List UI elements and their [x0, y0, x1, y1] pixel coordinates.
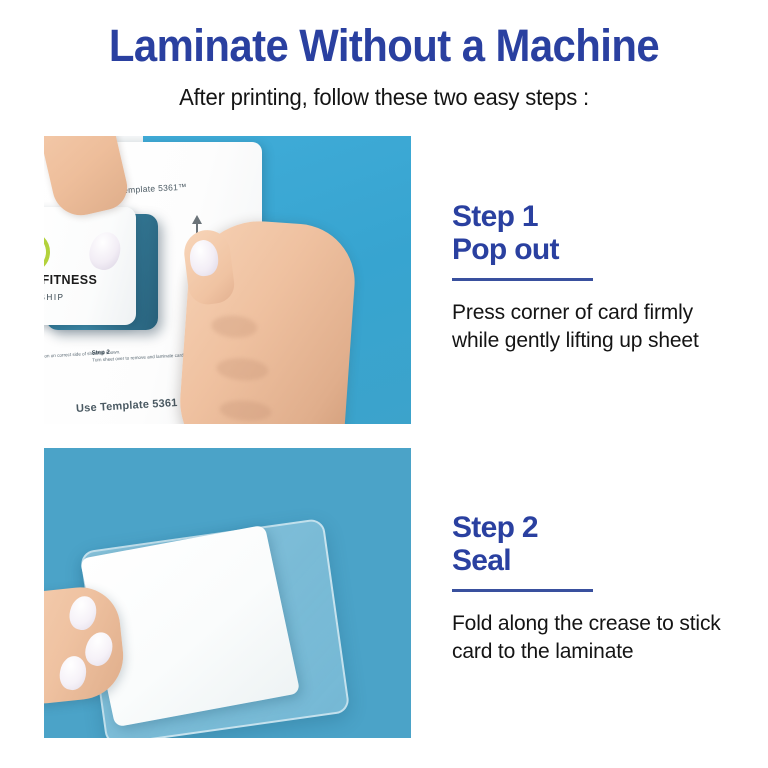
step-1-photo: Use Template 5361™ ep 1 t information on… [44, 136, 411, 424]
step-1-number: Step 1 [452, 200, 752, 233]
step-2-number: Step 2 [452, 511, 752, 544]
step-1-action: Pop out [452, 233, 752, 266]
card-subtitle: MBERSHIP [44, 293, 65, 302]
page-subtitle: After printing, follow these two easy st… [15, 82, 752, 112]
step-2-photo [44, 448, 411, 738]
card-brand-second: FITNESS [44, 273, 97, 287]
step-1-body: Press corner of card firmly while gently… [452, 299, 742, 354]
membership-card: IFT|FITNESS MBERSHIP [44, 207, 136, 325]
step-2-divider [452, 589, 593, 592]
step-2-text-block: Step 2 Seal Fold along the crease to sti… [452, 511, 752, 665]
card-brand-line: IFT|FITNESS [44, 273, 97, 287]
page-title: Laminate Without a Machine [27, 20, 741, 72]
knuckle-shade [216, 357, 269, 383]
knuckle-shade [211, 314, 258, 339]
step-2-action: Seal [452, 544, 752, 577]
step-1-divider [452, 278, 593, 281]
step-1-text-block: Step 1 Pop out Press corner of card firm… [452, 200, 752, 354]
step-2-body: Fold along the crease to stick card to t… [452, 610, 742, 665]
sheet-template-label-bottom: Use Template 5361 [76, 397, 178, 415]
knuckle-shade [219, 399, 272, 423]
fitness-logo-icon [44, 231, 50, 273]
